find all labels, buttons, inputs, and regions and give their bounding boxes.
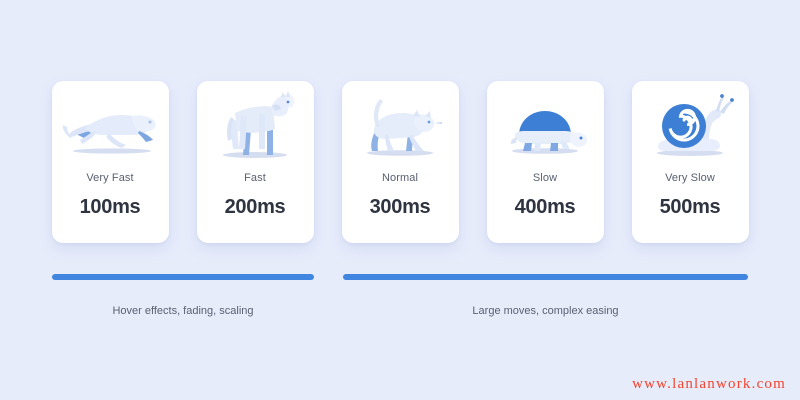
group-fast: Hover effects, fading, scaling [52,274,314,317]
speed-card-value: 400ms [515,197,576,217]
group-fast-caption: Hover effects, fading, scaling [52,306,314,317]
speed-card-very-fast[interactable]: Very Fast 100ms [52,81,169,243]
speed-card-slow[interactable]: Slow 400ms [487,81,604,243]
turtle-icon [495,89,595,167]
speed-scale-infographic: Very Fast 100ms [0,0,800,400]
cheetah-icon [60,89,160,167]
speed-card-value: 100ms [80,197,141,217]
snail-icon [640,89,740,167]
speed-card-value: 500ms [660,197,721,217]
speed-card-value: 300ms [370,197,431,217]
speed-card-label: Slow [533,173,557,184]
watermark: www.lanlanwork.com [632,376,786,393]
group-slow: Large moves, complex easing [343,274,748,317]
speed-card-very-slow[interactable]: Very Slow 500ms [632,81,749,243]
group-fast-bar [52,274,314,280]
speed-card-fast[interactable]: Fast 200ms [197,81,314,243]
horse-icon [205,89,305,167]
speed-card-label: Fast [244,173,266,184]
group-slow-bar [343,274,748,280]
cat-icon [350,89,450,167]
speed-card-value: 200ms [225,197,286,217]
group-slow-caption: Large moves, complex easing [343,306,748,317]
speed-card-label: Normal [382,173,418,184]
speed-card-label: Very Slow [665,173,715,184]
speed-card-label: Very Fast [86,173,133,184]
speed-cards-row: Very Fast 100ms [0,81,800,243]
speed-card-normal[interactable]: Normal 300ms [342,81,459,243]
